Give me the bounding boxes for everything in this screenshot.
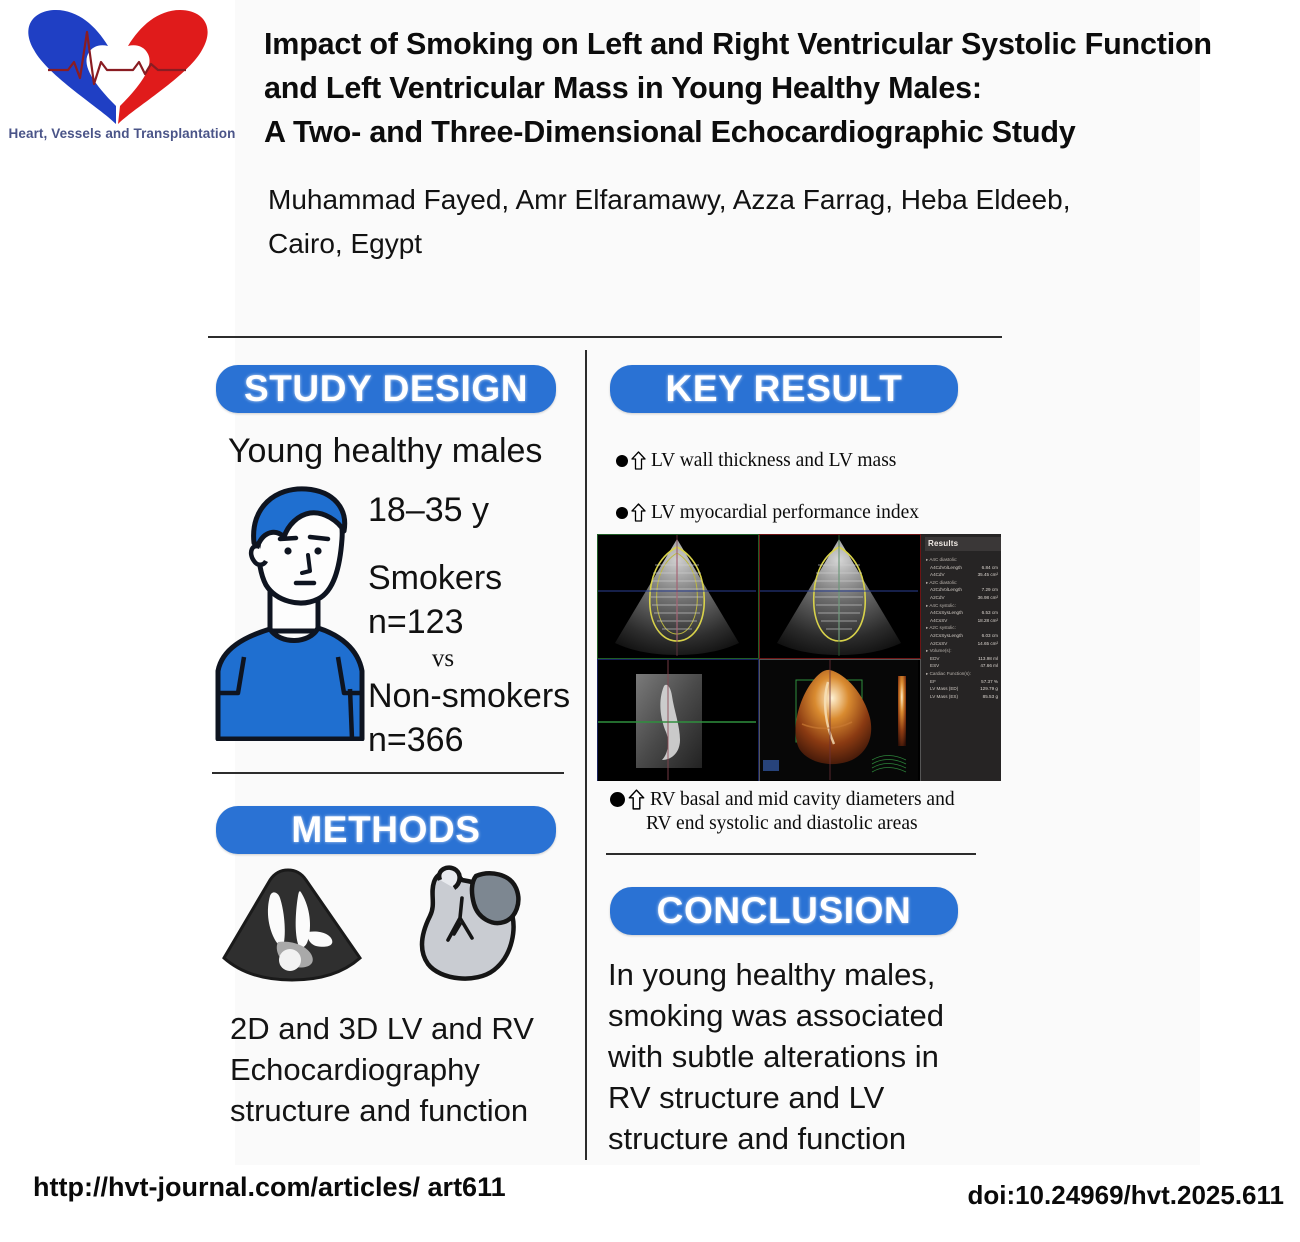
- echo-results-row: LV Mass (ED)129.79 g: [926, 685, 1000, 693]
- methods-line-3: structure and function: [230, 1090, 582, 1131]
- logo-right-heart-half: [118, 10, 208, 124]
- smokers-label: Smokers: [368, 556, 588, 600]
- echo-results-group-label: ▸ A2C diastolic:: [926, 579, 1000, 587]
- bullet-dot-icon: [616, 507, 628, 519]
- echo-results-list: ▸ A4C diastolic:A4CdVolLength6.84 cmA4Cd…: [926, 556, 1000, 700]
- echo-results-group-label: ▸ Volume(s):: [926, 647, 1000, 655]
- methods-icon-row: [222, 864, 562, 984]
- up-arrow-outline-icon: [628, 789, 645, 810]
- young-male-avatar-icon: [214, 481, 372, 741]
- left-column-divider: [212, 772, 564, 774]
- echo-results-row: A2CdVolLength7.29 cm: [926, 586, 1000, 594]
- conclusion-text: In young healthy males, smoking was asso…: [608, 954, 988, 1159]
- study-design-header: STUDY DESIGN: [216, 365, 556, 413]
- methods-description: 2D and 3D LV and RV Echocardiography str…: [230, 1008, 582, 1131]
- vs-label: vs: [368, 644, 518, 674]
- echo-results-group-label: ▸ A4C diastolic:: [926, 556, 1000, 564]
- echo-results-row: A4CsSV18.28 cm²: [926, 617, 1000, 625]
- conclusion-line-1: In young healthy males,: [608, 954, 988, 995]
- study-design-groups: 18–35 y Smokers n=123 vs Non-smokers n=3…: [368, 488, 588, 762]
- key-result-bullet-3: RV basal and mid cavity diameters and RV…: [610, 788, 982, 836]
- conclusion-line-4: RV structure and LV: [608, 1077, 988, 1118]
- bullet-dot-icon: [616, 455, 628, 467]
- author-list: Muhammad Fayed, Amr Elfaramawy, Azza Far…: [268, 178, 1268, 266]
- ultrasound-sector-icon: [224, 870, 360, 980]
- echo-quadrant-short-axis: [597, 659, 759, 781]
- conclusion-line-5: structure and function: [608, 1118, 988, 1159]
- journal-logo: [8, 4, 230, 154]
- echo-results-row: A2CsSV14.65 cm²: [926, 640, 1000, 648]
- article-doi[interactable]: doi:10.24969/hvt.2025.611: [967, 1180, 1284, 1211]
- key-result-bullet-1: LV wall thickness and LV mass: [616, 449, 976, 473]
- study-design-heading: Young healthy males: [228, 432, 576, 471]
- right-column-divider: [606, 853, 976, 855]
- title-line-2: and Left Ventricular Mass in Young Healt…: [264, 66, 1284, 110]
- conclusion-line-3: with subtle alterations in: [608, 1036, 988, 1077]
- title-line-3: A Two- and Three-Dimensional Echocardiog…: [264, 110, 1284, 154]
- echo-results-row: A2CdV36.98 cm²: [926, 594, 1000, 602]
- key-result-text-3: RV basal and mid cavity diameters and: [650, 789, 955, 810]
- key-result-bullet-2: LV myocardial performance index: [616, 501, 976, 525]
- echo-results-row: EDV113.98 ml: [926, 655, 1000, 663]
- echo-results-row: A2CsSysLength6.03 cm: [926, 632, 1000, 640]
- up-arrow-outline-icon: [631, 451, 646, 470]
- title-line-1: Impact of Smoking on Left and Right Vent…: [264, 22, 1284, 66]
- echo-results-row: A4CdVolLength6.84 cm: [926, 564, 1000, 572]
- nonsmokers-count: n=366: [368, 718, 588, 762]
- echo-results-group-label: ▸ A2C systolic:: [926, 624, 1000, 632]
- up-arrow-outline-icon: [631, 503, 646, 522]
- smokers-count: n=123: [368, 600, 588, 644]
- echo-results-panel: Results ▸ A4C diastolic:A4CdVolLength6.8…: [921, 534, 1001, 781]
- methods-header: METHODS: [216, 806, 556, 854]
- top-divider: [208, 336, 1002, 338]
- heart-anatomy-icon: [422, 868, 518, 979]
- methods-line-1: 2D and 3D LV and RV: [230, 1008, 582, 1049]
- echo-results-group-label: ▸ A4C systolic:: [926, 602, 1000, 610]
- echo-results-row: A4CsSysLength6.53 cm: [926, 609, 1000, 617]
- echo-quadrant-grid: [597, 534, 919, 781]
- echo-results-title: Results: [925, 537, 1001, 551]
- graphical-abstract: STUDY DESIGN Young healthy males: [208, 336, 1002, 1160]
- echo-quadrant-apical-2-chamber: [759, 534, 921, 659]
- echocardiography-screenshot: Results ▸ A4C diastolic:A4CdVolLength6.8…: [597, 534, 1001, 781]
- echo-results-row: ESV47.66 ml: [926, 662, 1000, 670]
- age-range: 18–35 y: [368, 488, 588, 532]
- logo-left-heart-half: [28, 10, 116, 124]
- article-url[interactable]: http://hvt-journal.com/articles/ art611: [33, 1172, 506, 1203]
- key-result-text-3-line-2: RV end systolic and diastolic areas: [646, 812, 982, 836]
- conclusion-line-2: smoking was associated: [608, 995, 988, 1036]
- conclusion-header: CONCLUSION: [610, 887, 958, 935]
- echo-quadrant-3d-volume-render: [759, 659, 921, 781]
- echo-results-row: EF57.37 %: [926, 678, 1000, 686]
- nonsmokers-label: Non-smokers: [368, 674, 588, 718]
- authors-line-2: Cairo, Egypt: [268, 222, 1268, 266]
- echo-results-group-label: ▸ Cardiac Function(s):: [926, 670, 1000, 678]
- key-result-text-1: LV wall thickness and LV mass: [651, 450, 896, 471]
- page-title: Impact of Smoking on Left and Right Vent…: [264, 22, 1284, 154]
- echo-results-row: A4CdV35.45 cm²: [926, 571, 1000, 579]
- echo-results-row: LV Mass (ES)85.53 g: [926, 693, 1000, 701]
- key-result-header: KEY RESULT: [610, 365, 958, 413]
- key-result-text-2: LV myocardial performance index: [651, 502, 919, 523]
- methods-line-2: Echocardiography: [230, 1049, 582, 1090]
- authors-line-1: Muhammad Fayed, Amr Elfaramawy, Azza Far…: [268, 178, 1268, 222]
- echo-quadrant-apical-4-chamber: [597, 534, 759, 659]
- bullet-dot-icon: [610, 792, 625, 807]
